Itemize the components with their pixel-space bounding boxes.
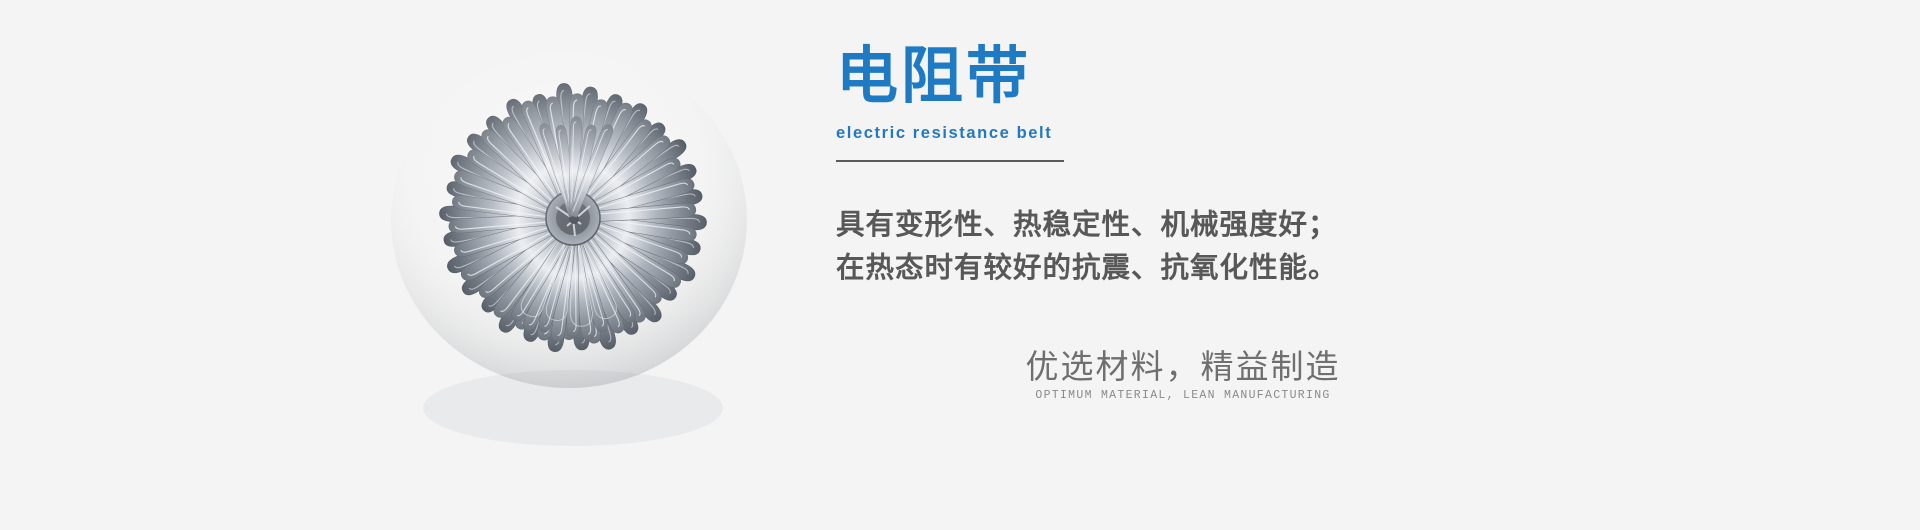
title-block: 电阻带 electric resistance belt: [836, 46, 1636, 162]
slogan-english: OPTIMUM MATERIAL, LEAN MANUFACTURING: [850, 389, 1516, 402]
product-banner: 电阻带 electric resistance belt 具有变形性、热稳定性、…: [0, 0, 1920, 530]
slogan-block: 优选材料，精益制造 OPTIMUM MATERIAL, LEAN MANUFAC…: [836, 346, 1516, 402]
slogan-chinese: 优选材料，精益制造: [850, 346, 1516, 387]
page-subtitle: electric resistance belt: [836, 124, 1636, 143]
description-line-2: 在热态时有较好的抗震、抗氧化性能。: [836, 247, 1636, 290]
page-title: 电阻带: [836, 46, 1636, 108]
title-divider: [836, 160, 1064, 162]
product-image: [355, 48, 805, 468]
text-content: 电阻带 electric resistance belt 具有变形性、热稳定性、…: [836, 46, 1636, 496]
product-description: 具有变形性、热稳定性、机械强度好； 在热态时有较好的抗震、抗氧化性能。: [836, 204, 1636, 291]
description-line-1: 具有变形性、热稳定性、机械强度好；: [836, 204, 1636, 247]
